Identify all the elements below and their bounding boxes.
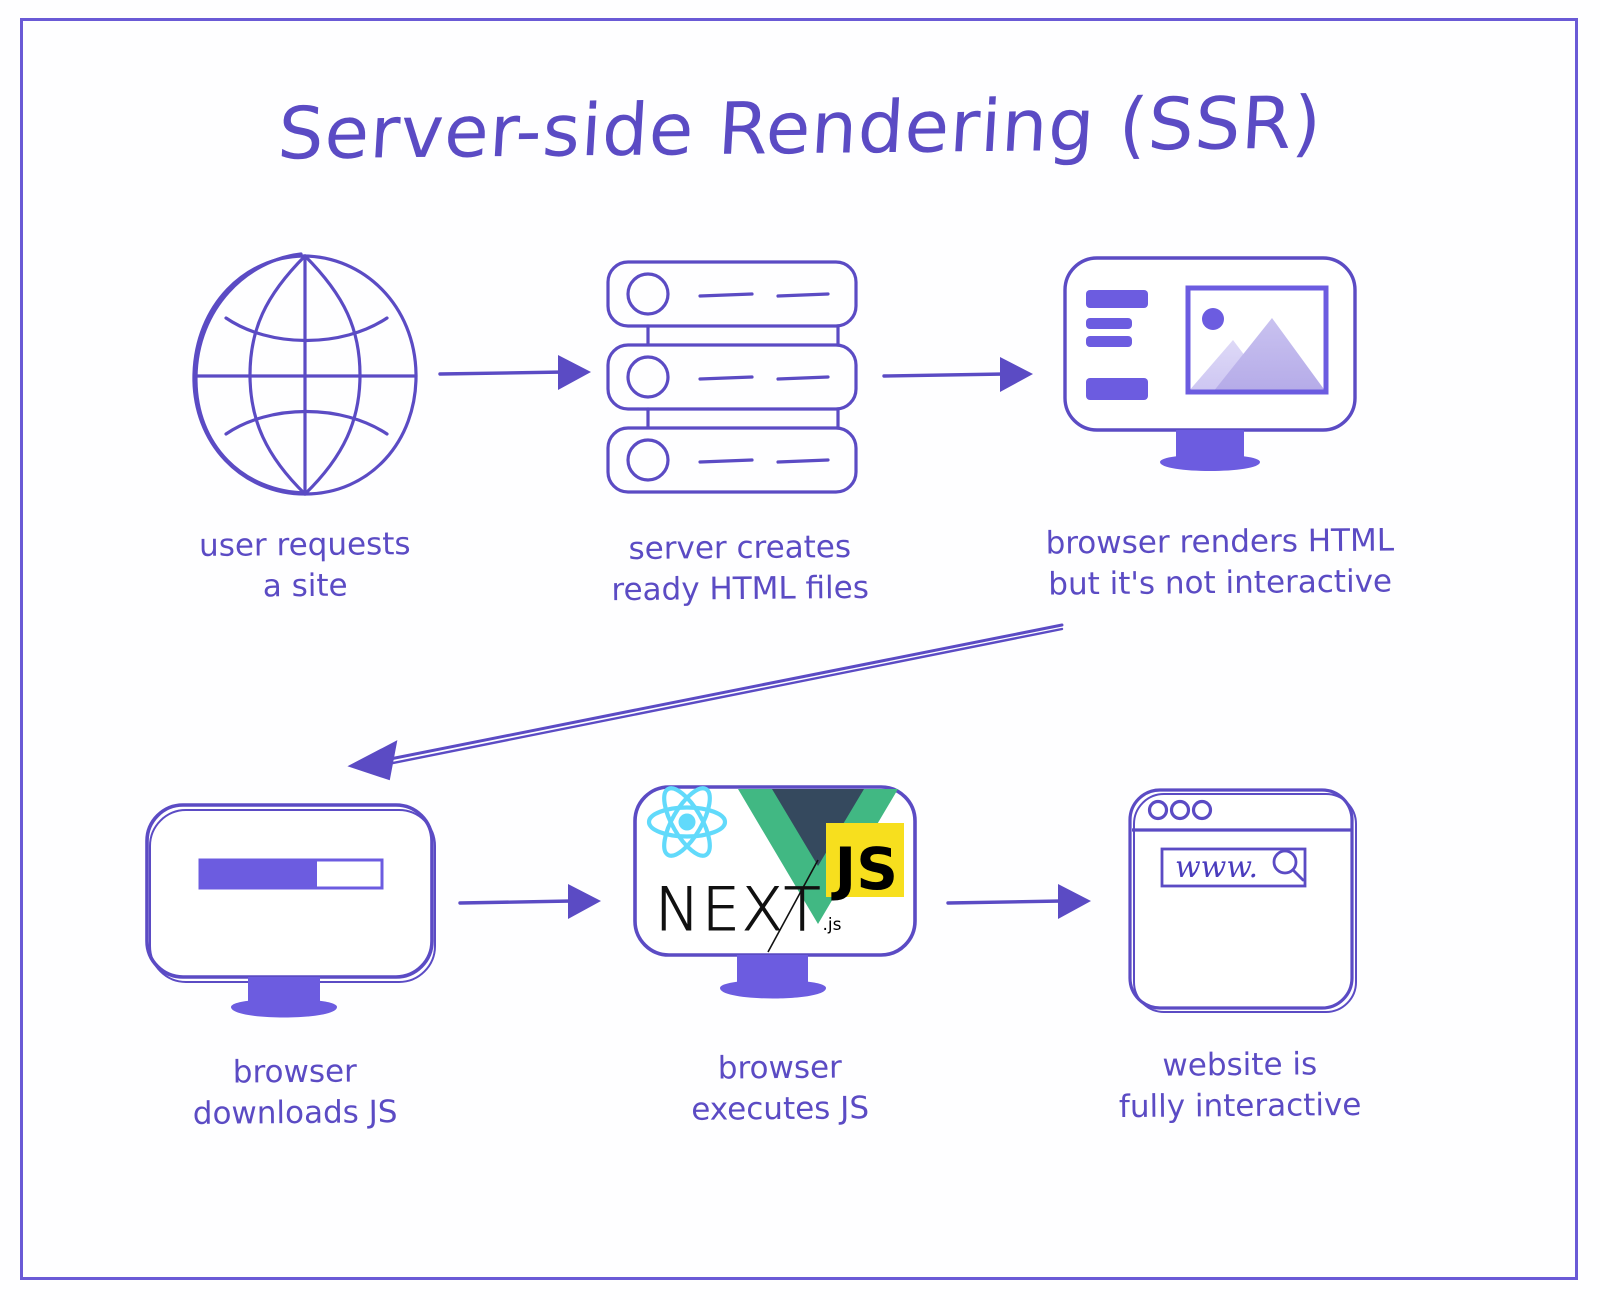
nextjs-logo-label: NEXT [655, 875, 823, 945]
javascript-logo-label: JS [835, 842, 904, 897]
caption-interactive: website is fully interactive [1095, 1044, 1386, 1129]
page-title: Server-side Rendering (SSR) [0, 78, 1600, 179]
caption-user-request: user requests a site [155, 524, 456, 609]
caption-browser-download: browser downloads JS [165, 1051, 426, 1135]
nextjs-logo: NEXT.js [655, 875, 841, 945]
caption-browser-html: browser renders HTML but it's not intera… [1020, 520, 1421, 605]
nextjs-logo-suffix: .js [823, 915, 842, 935]
caption-server-render: server creates ready HTML files [580, 527, 901, 612]
caption-browser-execute: browser executes JS [655, 1047, 906, 1131]
diagram-canvas: Server-side Rendering (SSR) [0, 0, 1600, 1300]
url-bar-value[interactable]: www. [1175, 850, 1258, 885]
